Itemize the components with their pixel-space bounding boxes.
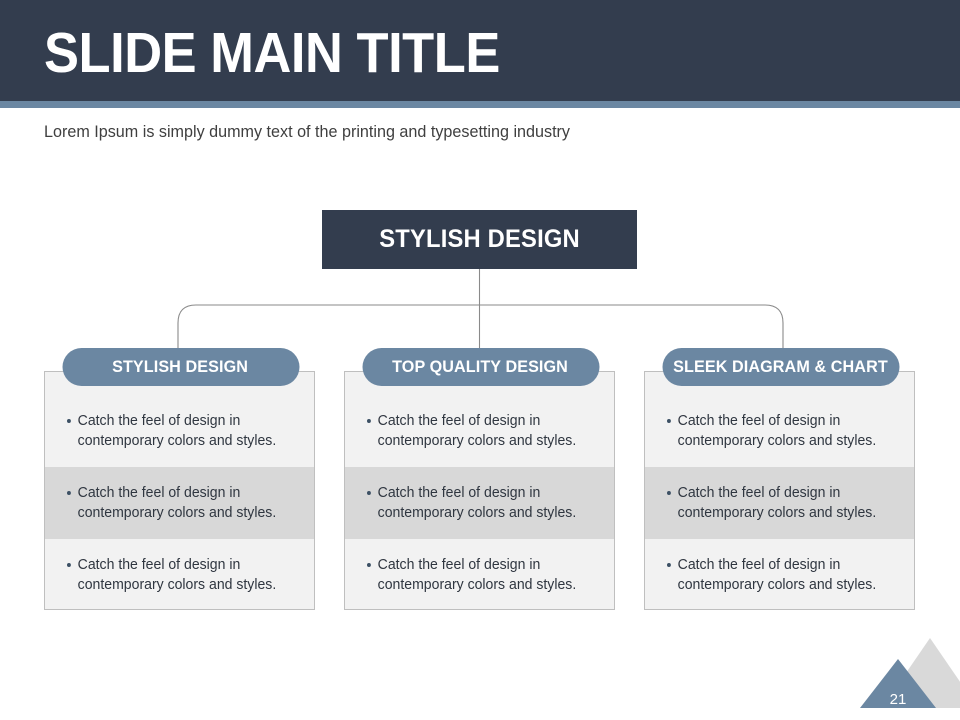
column-card: Catch the feel of design in contemporary… bbox=[344, 371, 615, 610]
diagram-column: Catch the feel of design in contemporary… bbox=[44, 348, 317, 612]
slide-canvas: SLIDE MAIN TITLE Lorem Ipsum is simply d… bbox=[0, 0, 960, 720]
list-item-text: Catch the feel of design in contemporary… bbox=[367, 555, 591, 595]
page-title: SLIDE MAIN TITLE bbox=[44, 17, 500, 89]
list-item[interactable]: Catch the feel of design in contemporary… bbox=[45, 467, 314, 539]
list-item-text: Catch the feel of design in contemporary… bbox=[367, 483, 591, 523]
list-item-text: Catch the feel of design in contemporary… bbox=[367, 411, 591, 451]
root-node-label: STYLISH DESIGN bbox=[379, 225, 580, 254]
list-item-text: Catch the feel of design in contemporary… bbox=[67, 555, 291, 595]
page-number-badge: 21 bbox=[848, 630, 960, 720]
column-header-pill[interactable]: SLEEK DIAGRAM & CHART bbox=[662, 348, 899, 386]
column-header-label: STYLISH DESIGN bbox=[113, 357, 249, 377]
column-rows: Catch the feel of design in contemporary… bbox=[45, 395, 314, 610]
list-item-text: Catch the feel of design in contemporary… bbox=[667, 555, 891, 595]
column-header-label: SLEEK DIAGRAM & CHART bbox=[673, 357, 888, 377]
list-item[interactable]: Catch the feel of design in contemporary… bbox=[345, 467, 614, 539]
list-item[interactable]: Catch the feel of design in contemporary… bbox=[45, 539, 314, 610]
list-item[interactable]: Catch the feel of design in contemporary… bbox=[345, 395, 614, 467]
page-subtitle: Lorem Ipsum is simply dummy text of the … bbox=[44, 120, 570, 144]
list-item-text: Catch the feel of design in contemporary… bbox=[67, 483, 291, 523]
list-item[interactable]: Catch the feel of design in contemporary… bbox=[645, 467, 914, 539]
list-item[interactable]: Catch the feel of design in contemporary… bbox=[345, 539, 614, 610]
list-item-text: Catch the feel of design in contemporary… bbox=[667, 411, 891, 451]
diagram-column: Catch the feel of design in contemporary… bbox=[344, 348, 617, 612]
list-item-text: Catch the feel of design in contemporary… bbox=[667, 483, 891, 523]
column-header-pill[interactable]: STYLISH DESIGN bbox=[62, 348, 299, 386]
column-rows: Catch the feel of design in contemporary… bbox=[645, 395, 914, 610]
column-rows: Catch the feel of design in contemporary… bbox=[345, 395, 614, 610]
diagram-column: Catch the feel of design in contemporary… bbox=[644, 348, 917, 612]
diagram-columns: Catch the feel of design in contemporary… bbox=[44, 348, 917, 612]
column-header-pill[interactable]: TOP QUALITY DESIGN bbox=[362, 348, 599, 386]
header-accent-strip bbox=[0, 101, 960, 108]
page-number: 21 bbox=[860, 691, 936, 708]
root-node[interactable]: STYLISH DESIGN bbox=[322, 210, 637, 269]
list-item[interactable]: Catch the feel of design in contemporary… bbox=[645, 539, 914, 610]
column-card: Catch the feel of design in contemporary… bbox=[44, 371, 315, 610]
column-header-label: TOP QUALITY DESIGN bbox=[393, 357, 569, 377]
list-item[interactable]: Catch the feel of design in contemporary… bbox=[645, 395, 914, 467]
column-card: Catch the feel of design in contemporary… bbox=[644, 371, 915, 610]
list-item-text: Catch the feel of design in contemporary… bbox=[67, 411, 291, 451]
list-item[interactable]: Catch the feel of design in contemporary… bbox=[45, 395, 314, 467]
